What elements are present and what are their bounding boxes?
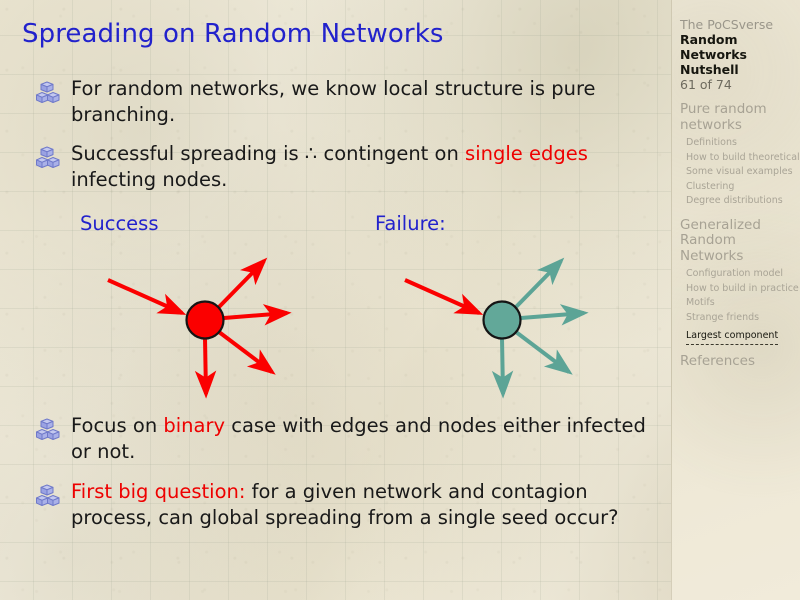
bullet-text-1: For random networks, we know local struc… — [71, 76, 646, 127]
sidebar-item-motifs[interactable]: Motifs — [680, 296, 796, 311]
sidebar-section-pure-random-networks[interactable]: Pure random networks — [680, 102, 796, 133]
bullet-3-part-1: Focus on — [71, 414, 163, 437]
bullet-text-2: Successful spreading is ∴ contingent on … — [71, 141, 646, 192]
page-title: Spreading on Random Networks — [22, 19, 444, 49]
sidebar-item-how-to-build-in-practice[interactable]: How to build in practice — [680, 282, 796, 297]
cubes-icon — [36, 146, 62, 170]
sidebar-item-degree-distributions[interactable]: Degree distributions — [680, 194, 796, 209]
sidebar-item-largest-component[interactable]: Largest component — [686, 329, 778, 345]
bullet-4-highlight: First big question: — [71, 480, 245, 503]
sidebar: The PoCSverse Random Networks Nutshell 6… — [671, 0, 800, 600]
sidebar-section-references[interactable]: References — [680, 354, 796, 370]
bullet-item-3: Focus on binary case with edges and node… — [36, 413, 651, 464]
sidebar-title-line-3: Nutshell — [680, 62, 796, 77]
sidebar-brand: The PoCSverse — [680, 17, 796, 32]
diagram-label-success: Success — [80, 212, 159, 235]
sidebar-item-largest-component-wrap: Largest component — [680, 325, 796, 345]
bullet-2-part-1: Successful spreading is ∴ contingent on — [71, 142, 465, 165]
cubes-icon — [36, 484, 62, 508]
sidebar-item-some-visual-examples[interactable]: Some visual examples — [680, 165, 796, 180]
cubes-icon — [36, 418, 62, 442]
bullet-3-highlight: binary — [163, 414, 225, 437]
sidebar-item-definitions[interactable]: Definitions — [680, 136, 796, 151]
sidebar-item-configuration-model[interactable]: Configuration model — [680, 267, 796, 282]
bullet-item-4: First big question: for a given network … — [36, 479, 651, 530]
bullet-1-part-1: For random networks, we know local struc… — [71, 77, 596, 126]
page-indicator: 61 of 74 — [680, 77, 796, 93]
bullet-2-highlight: single edges — [465, 142, 588, 165]
sidebar-title-line-2: Networks — [680, 47, 796, 62]
diagram-label-failure: Failure: — [375, 212, 446, 235]
bullet-text-3: Focus on binary case with edges and node… — [71, 413, 651, 464]
sidebar-title-line-1: Random — [680, 32, 796, 47]
bullet-item-1: For random networks, we know local struc… — [36, 76, 646, 127]
slide-root: Spreading on Random Networks — [0, 0, 800, 600]
bullet-2-part-3: infecting nodes. — [71, 168, 227, 191]
sidebar-section-generalized-random-networks[interactable]: Generalized Random Networks — [680, 218, 796, 265]
sidebar-item-how-to-build-theoretically[interactable]: How to build theoretically — [680, 151, 796, 166]
sidebar-item-clustering[interactable]: Clustering — [680, 180, 796, 195]
cubes-icon — [36, 81, 62, 105]
bullet-item-2: Successful spreading is ∴ contingent on … — [36, 141, 646, 192]
bullet-text-4: First big question: for a given network … — [71, 479, 651, 530]
sidebar-item-strange-friends[interactable]: Strange friends — [680, 311, 796, 326]
